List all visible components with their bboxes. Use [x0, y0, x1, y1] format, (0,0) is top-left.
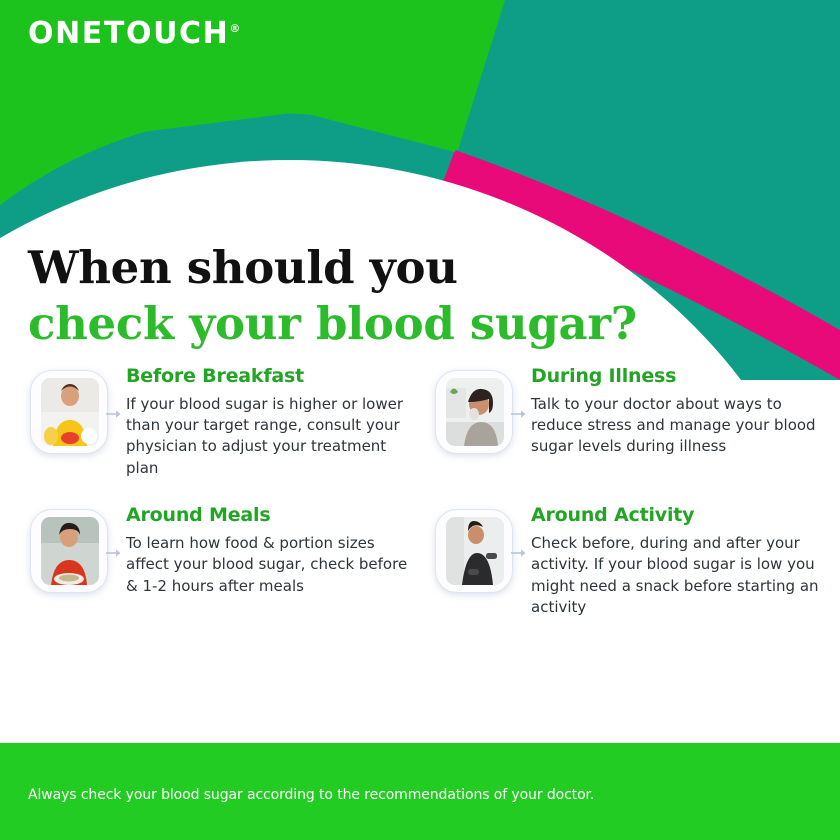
- tip-card-body: Around Activity Check before, during and…: [531, 501, 840, 618]
- tip-thumbnail-around-activity: [427, 501, 523, 609]
- tip-card-body: Around Meals To learn how food & portion…: [126, 501, 427, 597]
- tip-thumbnail-during-illness: [427, 362, 523, 470]
- tip-card-body: During Illness Talk to your doctor about…: [531, 362, 840, 458]
- tip-card-body: Before Breakfast If your blood sugar is …: [126, 362, 427, 479]
- arrow-right-icon: [106, 408, 122, 420]
- headline-line-2: check your blood sugar?: [28, 296, 637, 352]
- tip-card-title: Before Breakfast: [126, 366, 427, 387]
- headline-line-1: When should you: [28, 240, 637, 296]
- tip-card-during-illness: During Illness Talk to your doctor about…: [427, 362, 840, 479]
- man-eating-breakfast-photo: [41, 378, 99, 446]
- brand-logo: ONETOUCH®: [28, 19, 240, 49]
- tip-thumbnail-before-breakfast: [22, 362, 118, 470]
- brand-logo-text: ONETOUCH: [28, 16, 229, 51]
- footer-disclaimer: Always check your blood sugar according …: [28, 787, 594, 804]
- tip-card-around-meals: Around Meals To learn how food & portion…: [22, 501, 427, 618]
- arrow-right-icon: [106, 547, 122, 559]
- infographic-poster: ONETOUCH® When should you check your blo…: [0, 0, 840, 840]
- tip-card-before-breakfast: Before Breakfast If your blood sugar is …: [22, 362, 427, 479]
- arrow-right-icon: [511, 547, 527, 559]
- footer-banner: Always check your blood sugar according …: [0, 743, 840, 840]
- woman-sick-on-couch-photo: [446, 378, 504, 446]
- tip-card-around-activity: Around Activity Check before, during and…: [427, 501, 840, 618]
- arrow-right-icon: [511, 408, 527, 420]
- tip-card-text: If your blood sugar is higher or lower t…: [126, 394, 411, 479]
- tip-thumbnail-around-meals: [22, 501, 118, 609]
- woman-eating-meal-photo: [41, 517, 99, 585]
- page-title: When should you check your blood sugar?: [28, 240, 637, 353]
- tip-card-text: Talk to your doctor about ways to reduce…: [531, 394, 821, 458]
- tip-card-text: Check before, during and after your acti…: [531, 533, 821, 618]
- registered-trademark-symbol: ®: [229, 22, 240, 35]
- tips-grid: Before Breakfast If your blood sugar is …: [0, 362, 840, 618]
- tip-card-title: Around Activity: [531, 505, 840, 526]
- tip-card-title: Around Meals: [126, 505, 427, 526]
- tip-card-title: During Illness: [531, 366, 840, 387]
- man-exercising-with-dumbbell-photo: [446, 517, 504, 585]
- tip-card-text: To learn how food & portion sizes affect…: [126, 533, 411, 597]
